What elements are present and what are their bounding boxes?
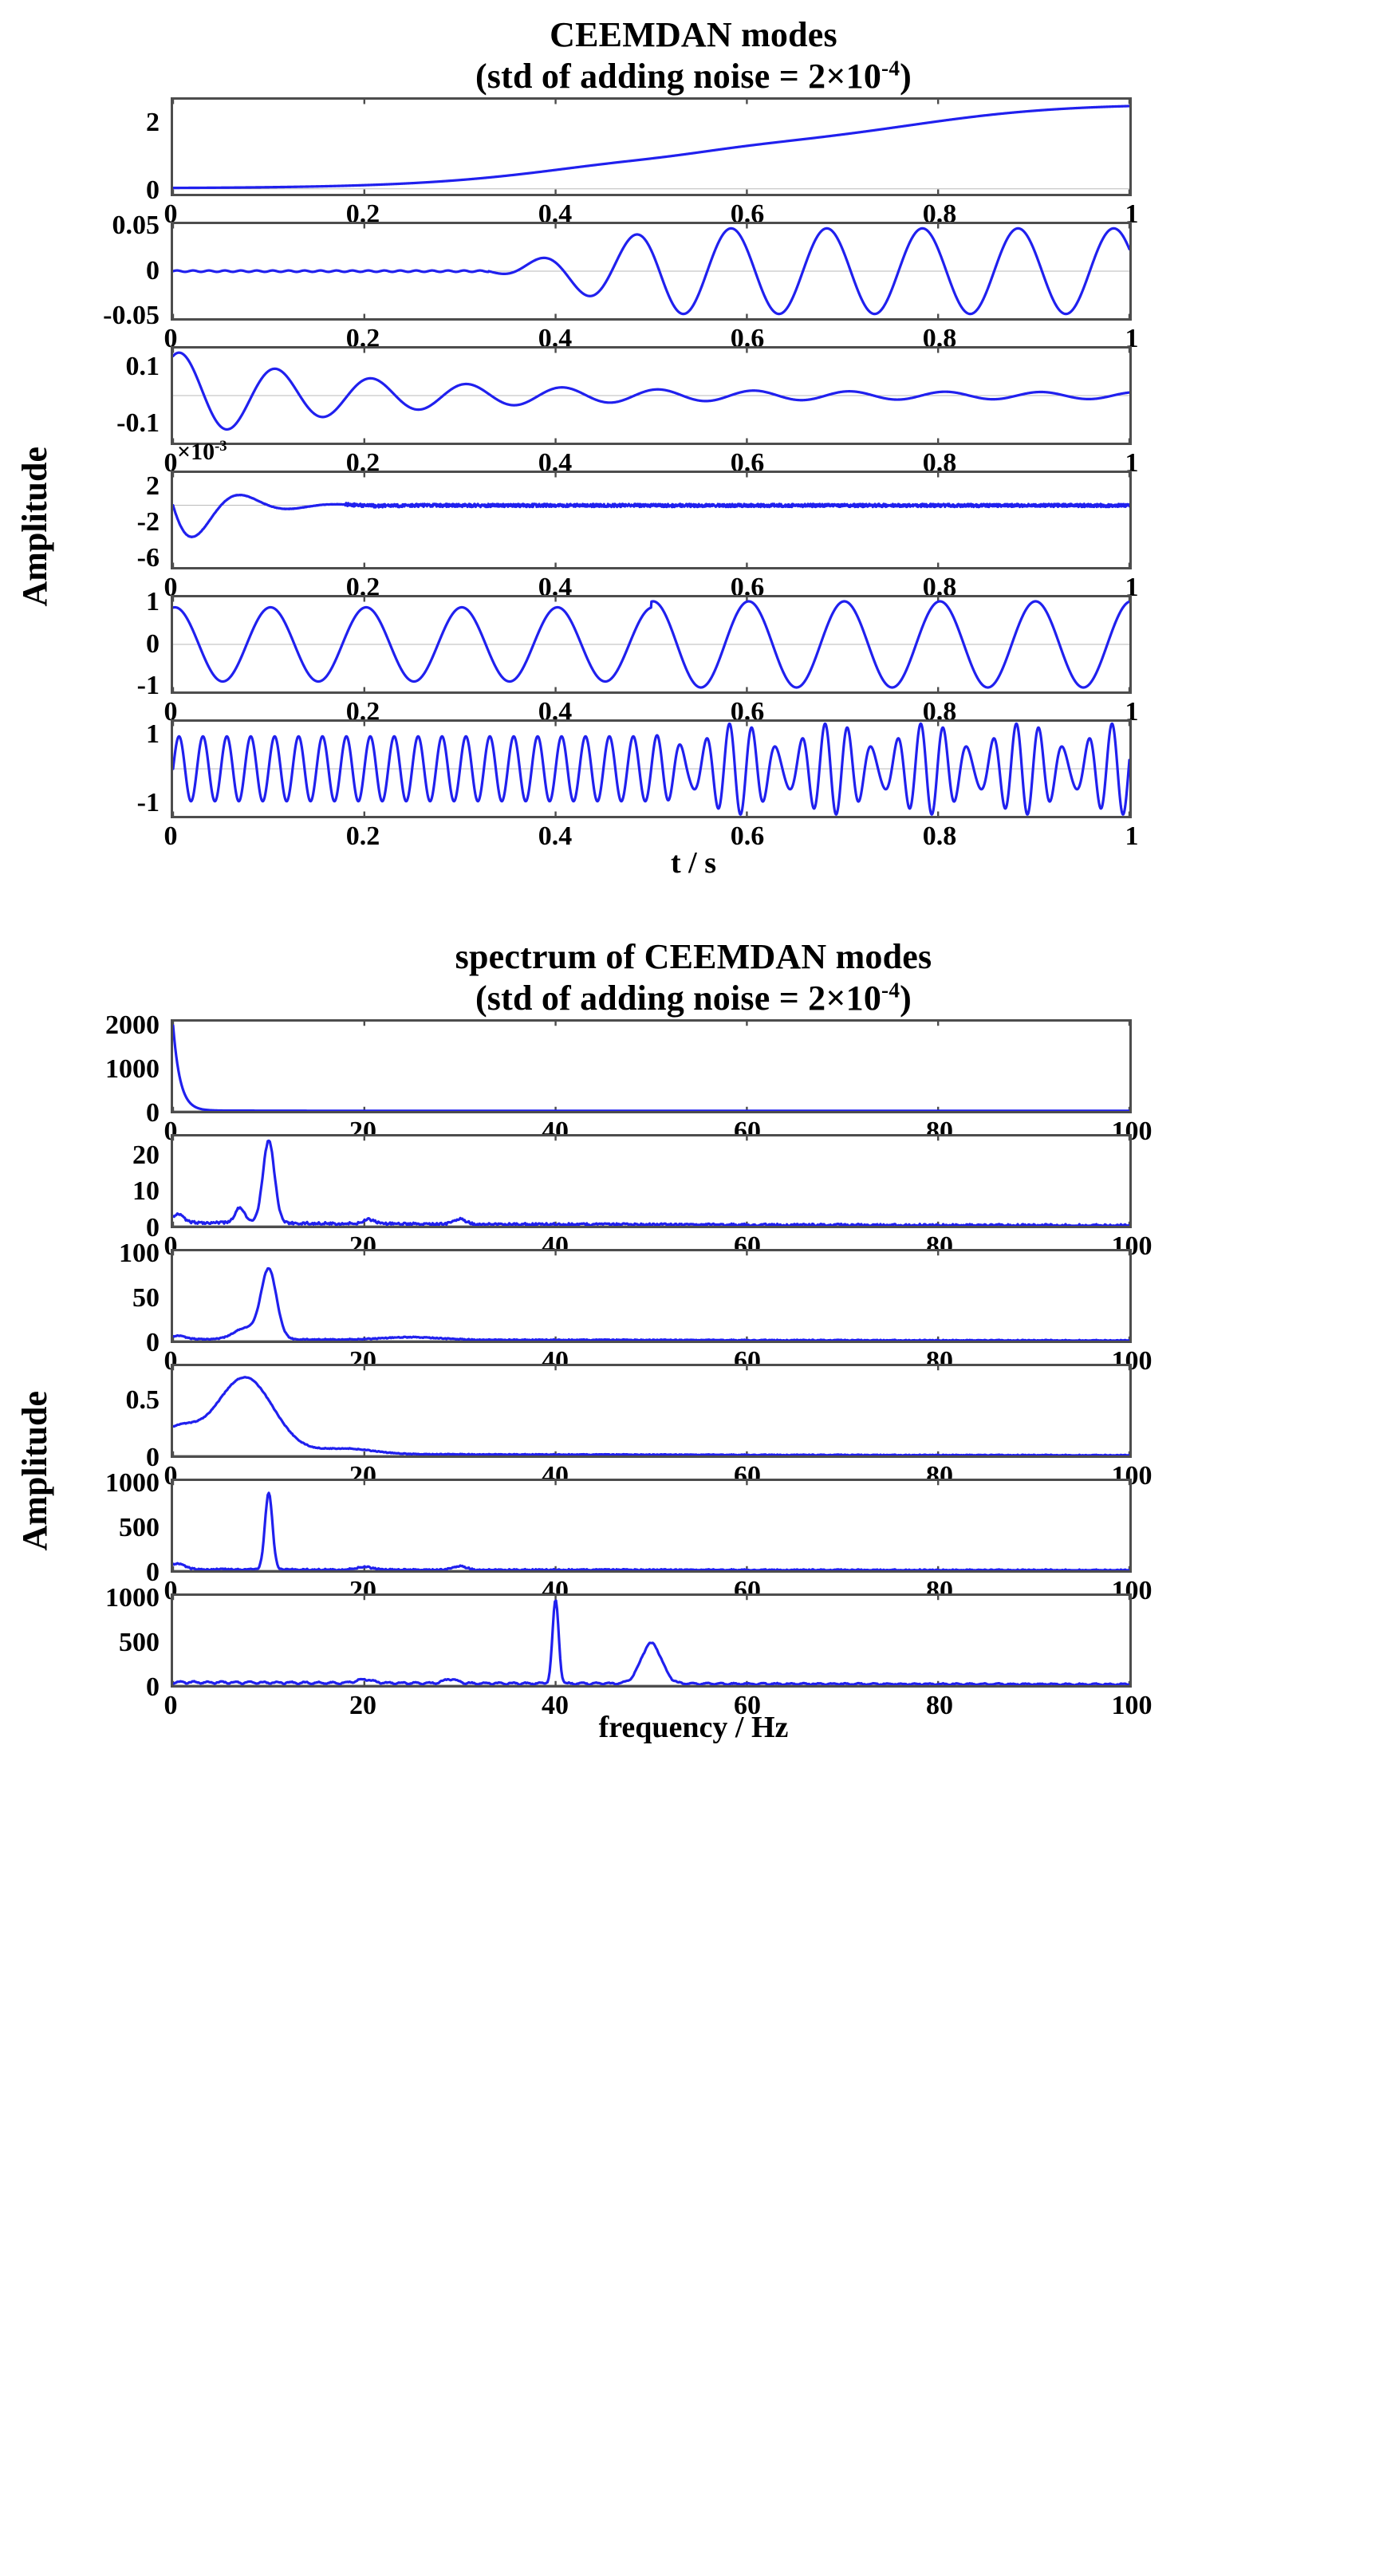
plot-area-spectrum-residual[interactable] [171, 1019, 1132, 1113]
figure-2-title-line-1: spectrum of CEEMDAN modes [455, 937, 932, 976]
xtick-label: 0.6 [731, 821, 765, 852]
ytick-label: -0.1 [116, 408, 160, 439]
xtick-label: 0.2 [346, 821, 380, 852]
xtick-label: 0.8 [923, 821, 957, 852]
plot-area-imf2[interactable] [171, 595, 1132, 694]
figure-1-title-line-2: (std of adding noise = 2×10-4) [0, 56, 1387, 97]
subplot-spectrum-imf1: 05001000 [0, 1593, 1387, 1688]
xaxis-spectrum-imf1: 020406080100 [171, 1688, 1132, 1737]
yaxis-ticks-spectrum-imf4: 050100 [0, 1249, 171, 1343]
ytick-label: 0.05 [112, 211, 160, 241]
exponent-power: -3 [215, 438, 227, 455]
xtick-label: 80 [926, 1691, 953, 1721]
subplot-spectrum-imf5: 01020 [0, 1134, 1387, 1228]
exponent-mantissa: ×10 [177, 439, 215, 465]
plot-area-spectrum-imf1[interactable] [171, 1593, 1132, 1688]
ytick-label: -1 [137, 671, 160, 701]
subplot-imf3: 2-2-6×10-3 [0, 471, 1387, 569]
plot-area-spectrum-imf5[interactable] [171, 1134, 1132, 1228]
figure-1-title-exponent: -4 [881, 56, 900, 80]
figure-1-title-paren: ) [900, 57, 912, 96]
ceemdan-modes-figure: CEEMDAN modes (std of adding noise = 2×1… [0, 0, 1387, 880]
plot-area-spectrum-imf2[interactable] [171, 1479, 1132, 1573]
figure-1-title: CEEMDAN modes (std of adding noise = 2×1… [0, 14, 1387, 97]
xtick-label: 100 [1112, 1691, 1153, 1721]
plot-area-imf5[interactable] [171, 222, 1132, 321]
plot-area-spectrum-imf4[interactable] [171, 1249, 1132, 1343]
ytick-label: -2 [137, 507, 160, 538]
ytick-label: 0 [146, 175, 160, 206]
axis-exponent-label: ×10-3 [177, 439, 227, 466]
ytick-label: 1000 [105, 1468, 160, 1499]
ytick-label: -1 [137, 788, 160, 818]
figure-2-title-line-2: (std of adding noise = 2×10-4) [0, 978, 1387, 1019]
ytick-label: 50 [132, 1283, 160, 1314]
ytick-label: 0.5 [126, 1385, 160, 1416]
ytick-label: 10 [132, 1176, 160, 1207]
figure-1-yaxis-title: Amplitude [14, 447, 55, 606]
ytick-label: 0 [146, 629, 160, 660]
ytick-label: 0 [146, 1098, 160, 1128]
plot-area-spectrum-imf3[interactable] [171, 1364, 1132, 1458]
ytick-label: 20 [132, 1140, 160, 1171]
figure-2-title: spectrum of CEEMDAN modes (std of adding… [0, 936, 1387, 1019]
ytick-label: 2 [146, 471, 160, 502]
figure-2-title-exponent: -4 [881, 978, 900, 1002]
ytick-label: 2000 [105, 1010, 160, 1041]
figure-2-title-paren: ) [900, 979, 912, 1018]
ytick-label: 2 [146, 108, 160, 138]
xaxis-imf1: 00.20.40.60.81 [171, 818, 1132, 868]
ytick-label: -0.05 [103, 301, 160, 331]
xtick-label: 0.4 [538, 821, 573, 852]
ytick-label: -6 [137, 543, 160, 573]
ytick-label: 500 [119, 1628, 160, 1658]
subplot-spectrum-residual: 010002000 [0, 1019, 1387, 1113]
subplot-imf5: -0.0500.05 [0, 222, 1387, 321]
xtick-label: 20 [349, 1691, 376, 1721]
yaxis-ticks-residual: 02 [0, 97, 171, 196]
xtick-label: 1 [1125, 821, 1139, 852]
subplot-spectrum-imf4: 050100 [0, 1249, 1387, 1343]
ytick-label: 500 [119, 1513, 160, 1543]
plot-area-imf4[interactable] [171, 346, 1132, 445]
ytick-label: 0 [146, 1328, 160, 1358]
xtick-label: 0 [164, 1691, 178, 1721]
subplot-imf4: -0.10.1 [0, 346, 1387, 445]
figure-2-title-noise-text: (std of adding noise = 2×10 [475, 979, 881, 1018]
subplot-residual: 02 [0, 97, 1387, 196]
ytick-label: 100 [119, 1239, 160, 1269]
plot-area-imf1[interactable] [171, 719, 1132, 818]
yaxis-ticks-imf1: -11 [0, 719, 171, 818]
xtick-label: 40 [542, 1691, 569, 1721]
ytick-label: 1 [146, 587, 160, 617]
yaxis-ticks-spectrum-imf1: 05001000 [0, 1593, 171, 1688]
ytick-label: 1 [146, 719, 160, 750]
plot-area-imf3[interactable] [171, 471, 1132, 569]
yaxis-ticks-spectrum-residual: 010002000 [0, 1019, 171, 1113]
figure-1-title-noise-text: (std of adding noise = 2×10 [475, 57, 881, 96]
xtick-label: 60 [734, 1691, 761, 1721]
subplot-spectrum-imf3: 00.5 [0, 1364, 1387, 1458]
yaxis-ticks-spectrum-imf5: 01020 [0, 1134, 171, 1228]
yaxis-ticks-imf4: -0.10.1 [0, 346, 171, 445]
ytick-label: 0.1 [126, 352, 160, 382]
ytick-label: 0 [146, 256, 160, 286]
ceemdan-modes-panels: 0200.20.40.60.81-0.0500.0500.20.40.60.81… [0, 97, 1387, 868]
ytick-label: 1000 [105, 1583, 160, 1613]
yaxis-ticks-imf2: -101 [0, 595, 171, 694]
subplot-spectrum-imf2: 05001000 [0, 1479, 1387, 1573]
ytick-label: 0 [146, 1672, 160, 1703]
spectrum-panels: 0100020000204060801000102002040608010005… [0, 1019, 1387, 1737]
xtick-label: 0 [164, 821, 178, 852]
subplot-imf1: -11 [0, 719, 1387, 818]
figure-1-title-line-1: CEEMDAN modes [550, 15, 837, 54]
ytick-label: 1000 [105, 1054, 160, 1085]
yaxis-ticks-imf5: -0.0500.05 [0, 222, 171, 321]
subplot-imf2: -101 [0, 595, 1387, 694]
figure-2-yaxis-title: Amplitude [14, 1391, 55, 1550]
plot-area-residual[interactable] [171, 97, 1132, 196]
spectrum-of-ceemdan-modes-figure: spectrum of CEEMDAN modes (std of adding… [0, 880, 1387, 1745]
